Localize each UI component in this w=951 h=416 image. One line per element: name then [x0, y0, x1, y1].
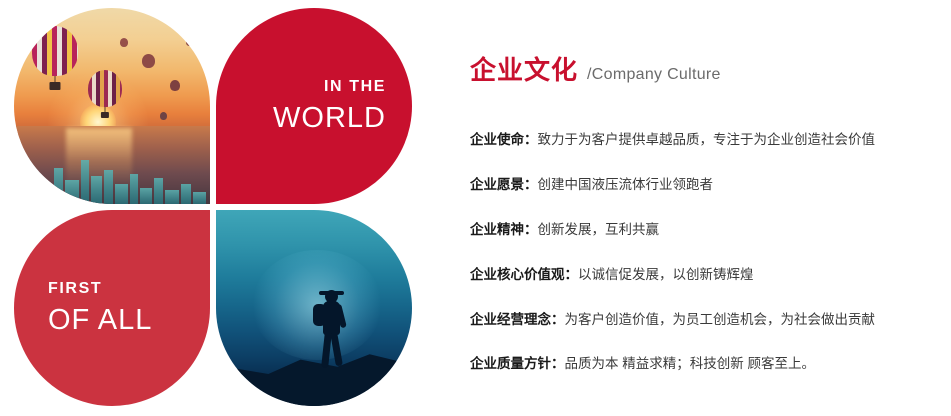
building	[193, 192, 206, 204]
culture-item-value: 品质为本 精益求精；科技创新 顾客至上。	[565, 356, 816, 371]
petal-first-of-all: FIRST OF ALL	[14, 210, 210, 406]
culture-item-label: 企业质量方针：	[470, 356, 565, 371]
in-the-world-caption: IN THE WORLD	[216, 8, 412, 204]
building	[154, 178, 163, 204]
culture-item-value: 致力于为客户提供卓越品质，专注于为企业创造社会价值	[538, 132, 876, 147]
in-the-world-line2: WORLD	[273, 102, 386, 135]
hot-air-balloon	[186, 38, 193, 48]
hiker-figure	[312, 290, 352, 368]
culture-item-value: 为客户创造价值，为员工创造机会，为社会做出贡献	[565, 312, 876, 327]
first-of-all-caption: FIRST OF ALL	[14, 210, 210, 406]
section-title-cn: 企业文化	[470, 50, 578, 87]
building	[181, 184, 191, 204]
petal-balloons-image	[14, 8, 210, 204]
building	[91, 176, 102, 204]
section-title-en: /Company Culture	[587, 66, 721, 84]
hiker-silhouette-artwork	[216, 210, 412, 406]
first-of-all-line2: OF ALL	[48, 304, 152, 337]
building	[140, 188, 152, 204]
building	[130, 174, 138, 204]
building	[54, 168, 63, 204]
hot-air-balloon	[170, 80, 180, 94]
culture-item-value: 以诚信促发展，以创新铸辉煌	[578, 267, 754, 282]
petal-in-the-world: IN THE WORLD	[216, 8, 412, 204]
culture-item-label: 企业精神：	[470, 222, 538, 237]
building	[65, 180, 79, 204]
culture-content: 企业文化 /Company Culture 企业使命：致力于为客户提供卓越品质，…	[470, 50, 940, 374]
culture-item-value: 创新发展，互利共赢	[538, 222, 660, 237]
building	[40, 186, 52, 204]
hot-air-balloon	[142, 54, 155, 72]
building	[30, 174, 38, 204]
culture-item-label: 企业核心价值观：	[470, 267, 578, 282]
company-culture-page: IN THE WORLD FIRST OF ALL	[0, 0, 951, 416]
culture-item: 企业精神：创新发展，互利共赢	[470, 221, 940, 240]
building	[81, 160, 89, 204]
culture-item: 企业使命：致力于为客户提供卓越品质，专注于为企业创造社会价值	[470, 131, 940, 150]
culture-item: 企业核心价值观：以诚信促发展，以创新铸辉煌	[470, 266, 940, 285]
culture-item-value: 创建中国液压流体行业领跑者	[538, 177, 714, 192]
culture-item: 企业愿景：创建中国液压流体行业领跑者	[470, 176, 940, 195]
first-of-all-line1: FIRST	[48, 280, 102, 298]
culture-item: 企业经营理念：为客户创造价值，为员工创造机会，为社会做出贡献	[470, 311, 940, 330]
balloons-sunset-artwork	[14, 8, 210, 204]
building	[165, 190, 179, 204]
hot-air-balloon	[160, 112, 167, 122]
hot-air-balloon	[32, 26, 78, 90]
culture-item-label: 企业愿景：	[470, 177, 538, 192]
hot-air-balloon	[120, 38, 128, 49]
building	[104, 170, 113, 204]
city-skyline	[14, 150, 210, 204]
building	[18, 182, 28, 204]
petal-collage: IN THE WORLD FIRST OF ALL	[14, 8, 414, 408]
hot-air-balloon	[88, 70, 122, 118]
culture-item-label: 企业使命：	[470, 132, 538, 147]
in-the-world-line1: IN THE	[324, 78, 386, 96]
culture-item: 企业质量方针：品质为本 精益求精；科技创新 顾客至上。	[470, 355, 940, 374]
petal-hiker-image	[216, 210, 412, 406]
building	[115, 184, 128, 204]
culture-item-label: 企业经营理念：	[470, 312, 565, 327]
section-title: 企业文化 /Company Culture	[470, 50, 940, 87]
